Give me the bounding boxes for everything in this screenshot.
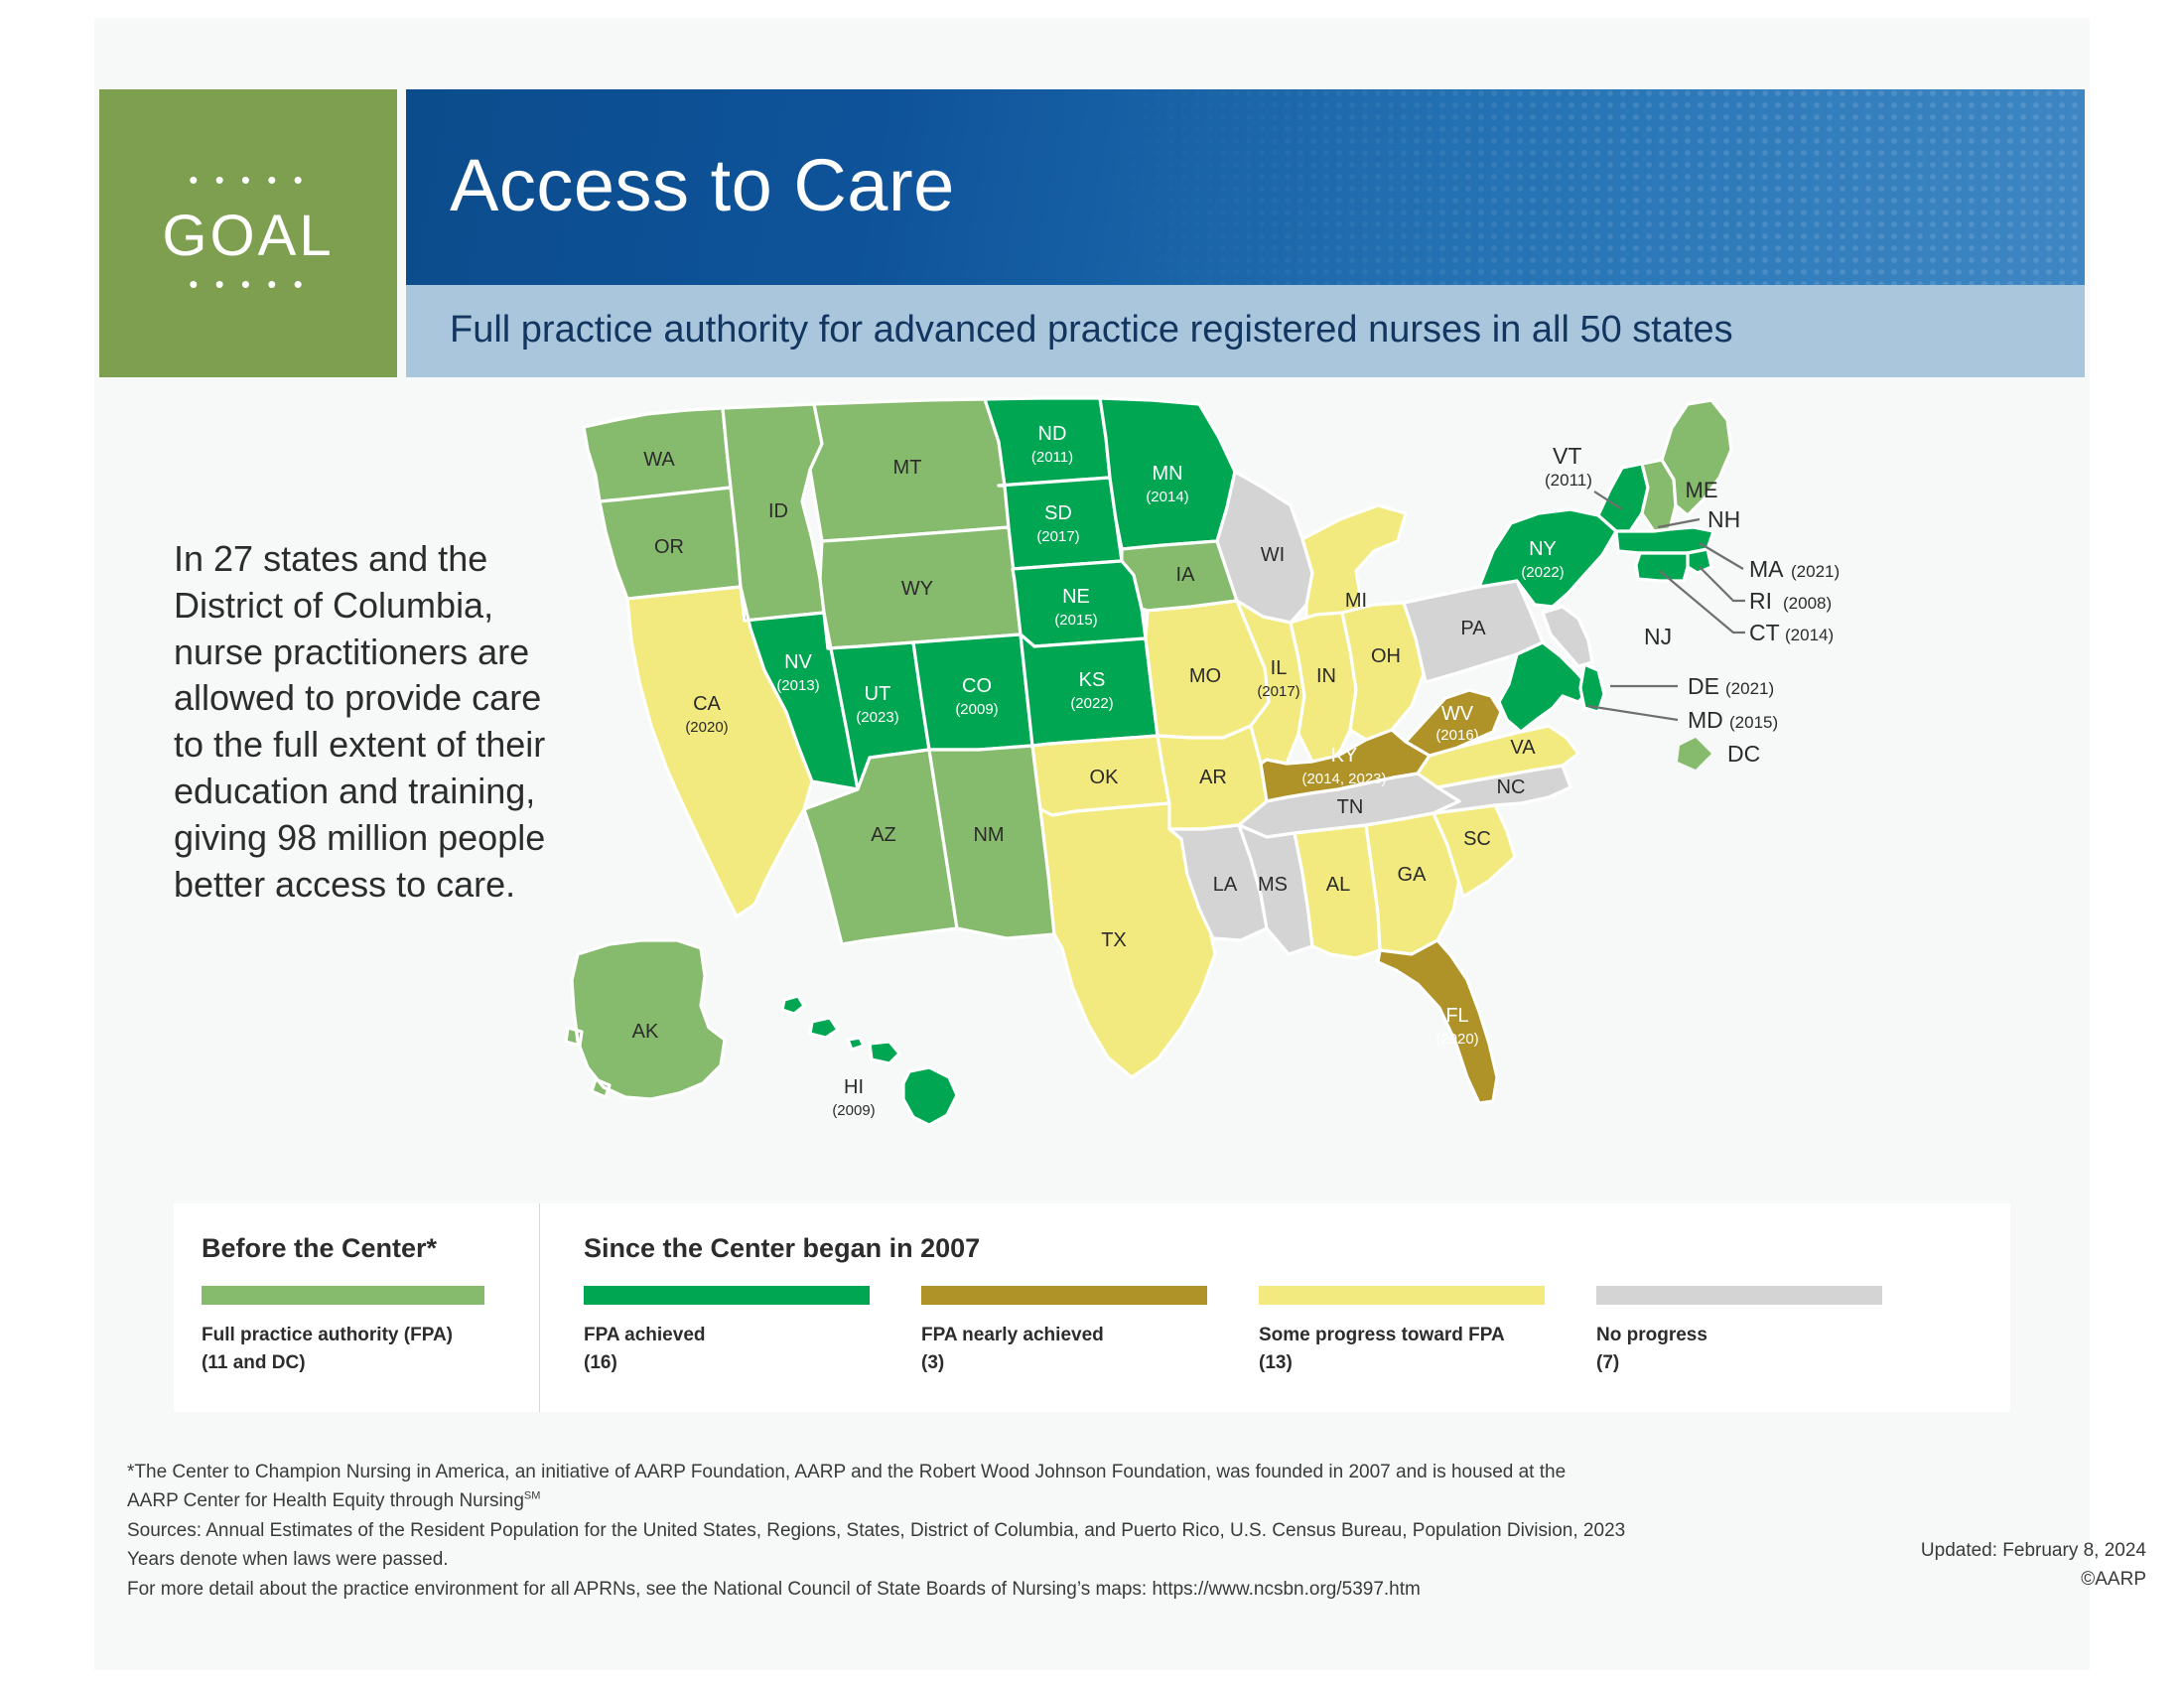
leader-line-RI (1700, 567, 1745, 601)
state-year-IL: (2017) (1257, 683, 1299, 700)
state-label-MT: MT (893, 457, 922, 479)
legend-count-fpa-before: (11 and DC) (202, 1349, 539, 1377)
state-label-NY: NY (1529, 538, 1557, 560)
legend: Before the Center* Full practice authori… (174, 1203, 2010, 1412)
state-VT (1598, 464, 1648, 531)
goal-dots-bottom-icon: • • • • • (189, 279, 307, 293)
legend-item-fpa-achieved: FPA achieved (16) (584, 1286, 921, 1376)
state-CT (1636, 553, 1688, 581)
header: • • • • • GOAL • • • • • Access to Care … (99, 89, 2085, 377)
state-year-CA: (2020) (685, 719, 728, 736)
state-DC (1678, 738, 1711, 770)
page-subtitle: Full practice authority for advanced pra… (406, 285, 2085, 352)
state-label-OK: OK (1090, 767, 1120, 788)
state-label-NC: NC (1497, 776, 1526, 798)
state-label-MO: MO (1189, 665, 1221, 687)
state-label-UT: UT (865, 683, 891, 705)
subtitle-bar: Full practice authority for advanced pra… (406, 285, 2085, 377)
infographic-page: • • • • • GOAL • • • • • Access to Care … (0, 0, 2184, 1688)
state-label-MS: MS (1258, 874, 1288, 896)
goal-label: GOAL (162, 203, 334, 269)
state-label-MI: MI (1345, 590, 1367, 612)
goal-badge: • • • • • GOAL • • • • • (99, 89, 397, 377)
callout-year-MD: (2015) (1729, 713, 1778, 732)
state-year-KS: (2022) (1070, 695, 1113, 712)
legend-item-no-progress: No progress (7) (1596, 1286, 1934, 1376)
legend-heading-before: Before the Center* (202, 1233, 539, 1264)
legend-swatch-fpa-before (202, 1286, 484, 1305)
callout-label-NH: NH (1707, 506, 1740, 532)
callout-year-DE: (2021) (1725, 679, 1774, 698)
leader-line-MD (1588, 706, 1678, 720)
callout-year-RI: (2008) (1783, 594, 1832, 613)
state-year-WV: (2016) (1435, 727, 1478, 744)
state-label-IL: IL (1271, 657, 1288, 679)
footnote-line-1b: AARP Center for Health Equity through Nu… (127, 1486, 2073, 1515)
footnote-years: Years denote when laws were passed. (127, 1545, 2073, 1574)
legend-swatch-fpa-nearly (921, 1286, 1207, 1305)
footnote-sm-mark: SM (524, 1490, 541, 1502)
updated-block: Updated: February 8, 2024 ©AARP (1921, 1537, 2146, 1594)
state-FL (1378, 940, 1497, 1103)
state-year-ND: (2011) (1031, 449, 1073, 466)
us-map: WA OR ID MT WY NV (2013) UT (2023) CA (2… (556, 392, 2075, 1167)
copyright: ©AARP (1921, 1566, 2146, 1595)
callout-label-MD: MD (1688, 707, 1723, 733)
callout-year-MA: (2021) (1791, 562, 1840, 581)
footnote-more-detail: For more detail about the practice envir… (127, 1575, 2073, 1604)
footnotes: *The Center to Champion Nursing in Ameri… (127, 1458, 2073, 1604)
legend-count-some-progress: (13) (1259, 1349, 1596, 1377)
footnote-line-1b-text: AARP Center for Health Equity through Nu… (127, 1490, 524, 1511)
legend-before-center: Before the Center* Full practice authori… (174, 1203, 540, 1412)
callout-label-RI: RI (1749, 588, 1772, 614)
callout-year-VT: (2011) (1545, 471, 1592, 490)
state-label-ND: ND (1038, 423, 1067, 445)
state-label-CO: CO (962, 675, 992, 697)
state-label-NV: NV (784, 651, 812, 673)
state-label-SD: SD (1044, 502, 1072, 524)
legend-item-some-progress: Some progress toward FPA (13) (1259, 1286, 1596, 1376)
callout-label-DC: DC (1727, 741, 1760, 767)
state-label-AL: AL (1326, 874, 1350, 896)
legend-label-fpa-before: Full practice authority (FPA) (202, 1322, 539, 1349)
state-label-VA: VA (1510, 737, 1536, 759)
state-year-FL: (2020) (1435, 1031, 1478, 1048)
callout-label-NJ: NJ (1644, 624, 1672, 649)
state-year-KY: (2014, 2023) (1301, 771, 1386, 787)
state-year-SD: (2017) (1036, 528, 1079, 545)
goal-dots-top-icon: • • • • • (189, 175, 307, 189)
state-label-OH: OH (1371, 645, 1401, 667)
state-label-WI: WI (1261, 544, 1285, 566)
state-label-NE: NE (1062, 586, 1090, 608)
title-bar: Access to Care (406, 89, 2085, 285)
state-label-WY: WY (901, 578, 933, 600)
state-label-GA: GA (1398, 864, 1428, 886)
state-year-UT: (2023) (856, 709, 898, 726)
intro-paragraph: In 27 states and the District of Columbi… (174, 536, 571, 908)
state-label-CA: CA (693, 693, 721, 715)
state-label-TX: TX (1101, 929, 1127, 951)
state-year-MN: (2014) (1146, 489, 1188, 505)
state-label-HI: HI (844, 1076, 864, 1098)
legend-label-fpa-nearly: FPA nearly achieved (921, 1322, 1259, 1349)
state-year-HI: (2009) (832, 1102, 875, 1119)
state-label-NM: NM (973, 824, 1004, 846)
state-label-IA: IA (1176, 564, 1196, 586)
legend-swatch-some-progress (1259, 1286, 1545, 1305)
legend-count-no-progress: (7) (1596, 1349, 1934, 1377)
state-label-ID: ID (768, 500, 788, 522)
state-year-NV: (2013) (776, 677, 819, 694)
state-label-PA: PA (1460, 618, 1486, 639)
callout-label-VT: VT (1553, 443, 1581, 469)
legend-count-fpa-nearly: (3) (921, 1349, 1259, 1377)
state-label-SC: SC (1463, 828, 1491, 850)
state-RI (1688, 549, 1711, 573)
state-label-ME: ME (1686, 478, 1718, 502)
state-year-CO: (2009) (955, 701, 998, 718)
state-label-WV: WV (1441, 703, 1474, 725)
callout-label-DE: DE (1688, 673, 1719, 699)
state-MA (1616, 527, 1713, 553)
state-year-NE: (2015) (1054, 612, 1097, 629)
callout-label-CT: CT (1749, 620, 1780, 645)
state-label-MN: MN (1152, 463, 1182, 485)
state-label-AZ: AZ (871, 824, 896, 846)
state-label-IN: IN (1316, 665, 1336, 687)
state-label-KS: KS (1079, 669, 1106, 691)
legend-label-some-progress: Some progress toward FPA (1259, 1322, 1596, 1349)
callout-label-MA: MA (1749, 556, 1784, 582)
legend-heading-since: Since the Center began in 2007 (584, 1233, 2010, 1264)
updated-date: Updated: February 8, 2024 (1921, 1537, 2146, 1566)
state-label-OR: OR (654, 536, 684, 558)
footnote-sources: Sources: Annual Estimates of the Residen… (127, 1516, 2073, 1545)
state-label-FL: FL (1445, 1005, 1468, 1027)
legend-label-no-progress: No progress (1596, 1322, 1934, 1349)
state-label-TN: TN (1337, 796, 1364, 818)
state-label-KY: KY (1331, 745, 1358, 767)
state-DE (1580, 664, 1604, 712)
legend-count-fpa-achieved: (16) (584, 1349, 921, 1377)
state-label-LA: LA (1213, 874, 1238, 896)
legend-since-center: Since the Center began in 2007 FPA achie… (540, 1203, 2010, 1412)
state-year-NY: (2022) (1521, 564, 1564, 581)
footnote-line-1a: *The Center to Champion Nursing in Ameri… (127, 1458, 2073, 1486)
legend-swatch-no-progress (1596, 1286, 1882, 1305)
callout-year-CT: (2014) (1785, 626, 1834, 644)
state-label-WA: WA (643, 449, 675, 471)
page-title: Access to Care (406, 89, 2085, 227)
legend-item-fpa-nearly: FPA nearly achieved (3) (921, 1286, 1259, 1376)
legend-label-fpa-achieved: FPA achieved (584, 1322, 921, 1349)
legend-swatch-fpa-achieved (584, 1286, 870, 1305)
state-label-AK: AK (632, 1021, 659, 1043)
state-AK (566, 940, 725, 1099)
state-label-AR: AR (1199, 767, 1227, 788)
